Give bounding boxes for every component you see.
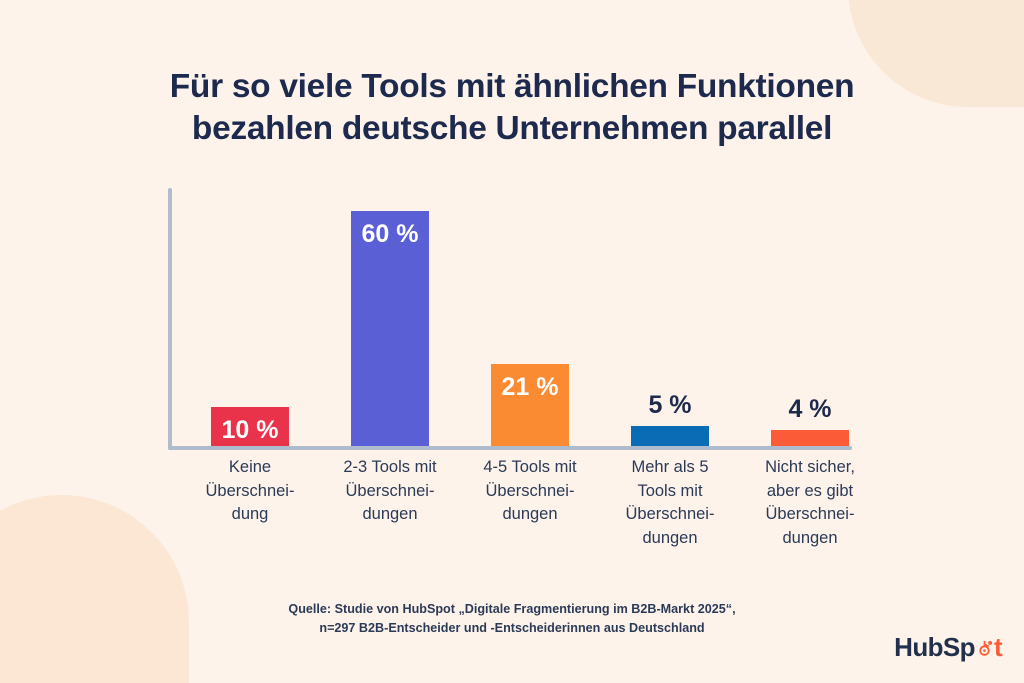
category-label-line: Überschnei- (598, 503, 742, 527)
title-line-1: Für so viele Tools mit ähnlichen Funktio… (0, 66, 1024, 108)
bar-slot: 4 % (740, 188, 880, 446)
bar-slot: 10 % (180, 188, 320, 446)
category-label-line: dungen (738, 527, 882, 551)
category-label-line: aber es gibt (738, 480, 882, 504)
title-line-2: bezahlen deutsche Unternehmen parallel (0, 108, 1024, 150)
category-label-line: Nicht sicher, (738, 456, 882, 480)
category-label: 4-5 Tools mitÜberschnei-dungen (458, 456, 602, 527)
category-label-line: Überschnei- (318, 480, 462, 504)
bar-slot: 5 % (600, 188, 740, 446)
hubspot-logo[interactable]: HubSp t (894, 633, 1002, 661)
hubspot-sprocket-icon (975, 639, 994, 658)
category-label: 2-3 Tools mitÜberschnei-dungen (318, 456, 462, 527)
category-label: KeineÜberschnei-dung (178, 456, 322, 527)
bar-value-label: 21 % (491, 373, 569, 402)
category-label-line: Überschnei- (458, 480, 602, 504)
category-label-line: Überschnei- (738, 503, 882, 527)
bar-value-label: 10 % (211, 416, 289, 445)
category-label: Mehr als 5Tools mitÜberschnei-dungen (598, 456, 742, 550)
category-label: Nicht sicher,aber es gibtÜberschnei-dung… (738, 456, 882, 550)
bar-value-label: 4 % (771, 395, 849, 424)
category-label-line: 2-3 Tools mit (318, 456, 462, 480)
bar[interactable]: 21 % (491, 364, 569, 446)
source-note: Quelle: Studie von HubSpot „Digitale Fra… (0, 600, 1024, 638)
chart-title: Für so viele Tools mit ähnlichen Funktio… (0, 66, 1024, 150)
bar-slot: 60 % (320, 188, 460, 446)
category-label-line: Tools mit (598, 480, 742, 504)
category-label-line: dungen (318, 503, 462, 527)
bar-slot: 21 % (460, 188, 600, 446)
category-label-line: Überschnei- (178, 480, 322, 504)
bar[interactable]: 10 % (211, 407, 289, 446)
source-line-1: Quelle: Studie von HubSpot „Digitale Fra… (0, 600, 1024, 619)
bar-chart: 10 %60 %21 %5 %4 % (168, 188, 852, 450)
source-line-2: n=297 B2B-Entscheider und -Entscheiderin… (0, 619, 1024, 638)
bar-value-label: 5 % (631, 391, 709, 420)
bar-value-label: 60 % (351, 220, 429, 249)
decorative-shape-bottom-left (0, 495, 189, 683)
bar[interactable] (631, 426, 709, 446)
x-axis-category-labels: KeineÜberschnei-dung2-3 Tools mitÜbersch… (168, 456, 852, 566)
category-label-line: dungen (598, 527, 742, 551)
category-label-line: Mehr als 5 (598, 456, 742, 480)
logo-text-main: HubSp (894, 634, 975, 660)
category-label-line: dung (178, 503, 322, 527)
bar-series: 10 %60 %21 %5 %4 % (168, 188, 852, 446)
bar[interactable] (771, 430, 849, 446)
logo-text-accent: t (994, 634, 1002, 660)
category-label-line: 4-5 Tools mit (458, 456, 602, 480)
category-label-line: Keine (178, 456, 322, 480)
category-label-line: dungen (458, 503, 602, 527)
infographic-canvas: Für so viele Tools mit ähnlichen Funktio… (0, 0, 1024, 683)
x-axis-line (168, 446, 852, 450)
bar[interactable]: 60 % (351, 211, 429, 446)
